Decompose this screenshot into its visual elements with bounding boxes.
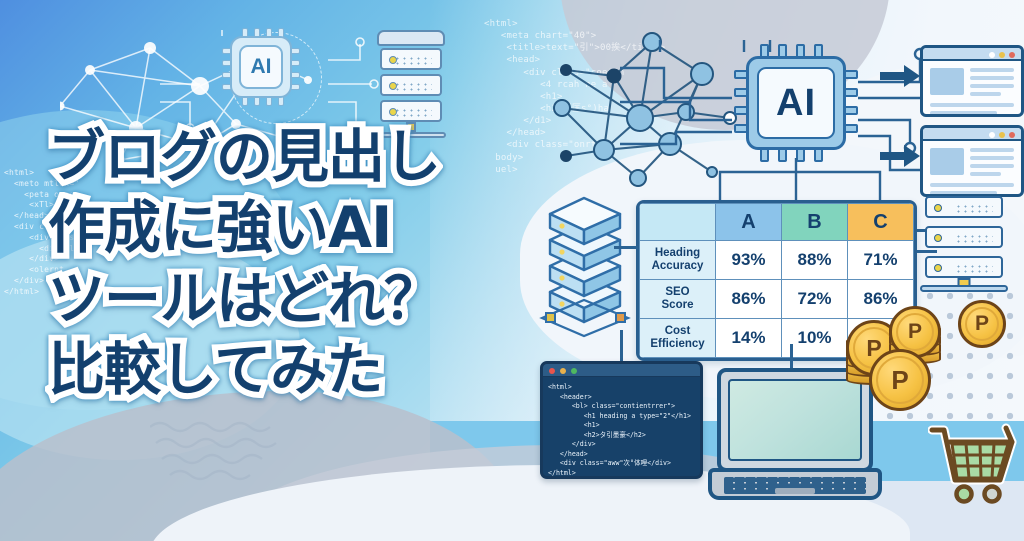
browser-card-titlebar bbox=[923, 128, 1021, 141]
table-header-blank bbox=[640, 204, 716, 241]
cell-seo-score-a: 86% bbox=[716, 280, 782, 319]
browser-card-content bbox=[923, 141, 1021, 183]
row-label-cost-efficiency: Cost Efficiency bbox=[640, 319, 716, 358]
browser-card-footer bbox=[923, 103, 1021, 117]
laptop-base bbox=[708, 468, 882, 500]
page-title: ブログの見出し 作成に強いAI ツールはどれ？ 比較してみた bbox=[48, 122, 568, 406]
row-label-line2: Efficiency bbox=[643, 338, 712, 351]
browser-card-footer bbox=[923, 183, 1021, 197]
table-row: Heading Accuracy 93% 88% 71% bbox=[640, 241, 914, 280]
table-header-a: A bbox=[716, 204, 782, 241]
cell-cost-efficiency-a: 14% bbox=[716, 319, 782, 358]
table-row: SEO Score 86% 72% 86% bbox=[640, 280, 914, 319]
server-rack-topleft bbox=[380, 40, 442, 124]
row-label-line1: Cost bbox=[643, 325, 712, 338]
ai-chip-main: AI bbox=[734, 44, 858, 162]
thumbnail-canvas: <html> <meta chart="40"> <title>text="引"… bbox=[0, 0, 1024, 541]
row-label-line2: Score bbox=[643, 299, 712, 312]
cell-seo-score-b: 72% bbox=[782, 280, 848, 319]
laptop-illustration bbox=[708, 368, 882, 508]
ai-chip-main-label: AI bbox=[757, 67, 835, 139]
thumbnail-placeholder bbox=[930, 68, 964, 95]
cell-heading-accuracy-b: 88% bbox=[782, 241, 848, 280]
squiggle-decoration bbox=[150, 417, 340, 497]
thumbnail-placeholder bbox=[930, 148, 964, 175]
row-label-line1: Heading bbox=[643, 247, 712, 260]
row-label-line2: Accuracy bbox=[643, 260, 712, 273]
cell-heading-accuracy-c: 71% bbox=[848, 241, 914, 280]
browser-card-bottom[interactable] bbox=[920, 125, 1024, 197]
point-coin-floating: P bbox=[958, 300, 1006, 348]
browser-card-content bbox=[923, 61, 1021, 103]
title-line-2: 作成に強いAI bbox=[48, 193, 568, 264]
point-coin-front: P bbox=[869, 349, 931, 411]
browser-card-top[interactable] bbox=[920, 45, 1024, 117]
laptop-trackpad bbox=[775, 488, 815, 494]
wire-to-editor bbox=[620, 330, 623, 364]
table-header-c: C bbox=[848, 204, 914, 241]
row-label-line1: SEO bbox=[643, 286, 712, 299]
cell-heading-accuracy-a: 93% bbox=[716, 241, 782, 280]
title-line-4: 比較してみた bbox=[48, 335, 568, 406]
row-label-seo-score: SEO Score bbox=[640, 280, 716, 319]
browser-card-titlebar bbox=[923, 48, 1021, 61]
wire-stack-to-table bbox=[614, 246, 638, 249]
title-line-1: ブログの見出し bbox=[48, 122, 568, 193]
table-header-b: B bbox=[782, 204, 848, 241]
laptop-screen bbox=[728, 379, 862, 461]
server-rack-right bbox=[925, 196, 1003, 288]
title-line-3: ツールはどれ？ bbox=[48, 264, 568, 335]
table-header-row: A B C bbox=[640, 204, 914, 241]
shopping-cart-icon bbox=[928, 418, 1020, 510]
row-label-heading-accuracy: Heading Accuracy bbox=[640, 241, 716, 280]
arrow-icons-right bbox=[880, 60, 924, 200]
wire-table-to-rack bbox=[917, 250, 937, 253]
maximize-icon[interactable] bbox=[571, 368, 577, 374]
